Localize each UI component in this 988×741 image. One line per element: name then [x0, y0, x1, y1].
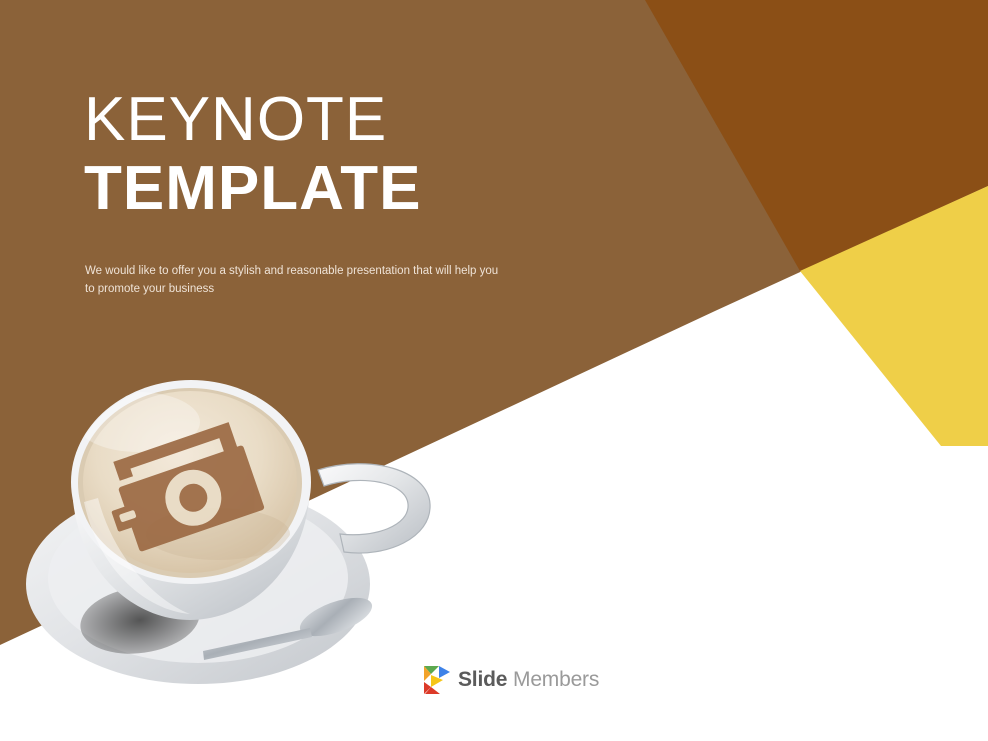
subtitle-text: We would like to offer you a stylish and… — [85, 263, 505, 299]
title-line-1: KEYNOTE — [84, 88, 604, 151]
logo-wordmark: Slide Members — [458, 669, 599, 692]
coffee-cup-photo — [18, 352, 468, 692]
title-block: KEYNOTE TEMPLATE — [84, 88, 604, 220]
slidemembers-pinwheel-icon — [422, 663, 452, 697]
presentation-slide: KEYNOTE TEMPLATE We would like to offer … — [0, 0, 988, 741]
logo-word-slide: Slide — [458, 668, 507, 691]
logo-word-members: Members — [513, 668, 599, 691]
title-line-2: TEMPLATE — [84, 157, 604, 220]
logo-blue-segment — [439, 666, 450, 678]
slide-members-logo[interactable]: Slide Members — [422, 663, 599, 697]
